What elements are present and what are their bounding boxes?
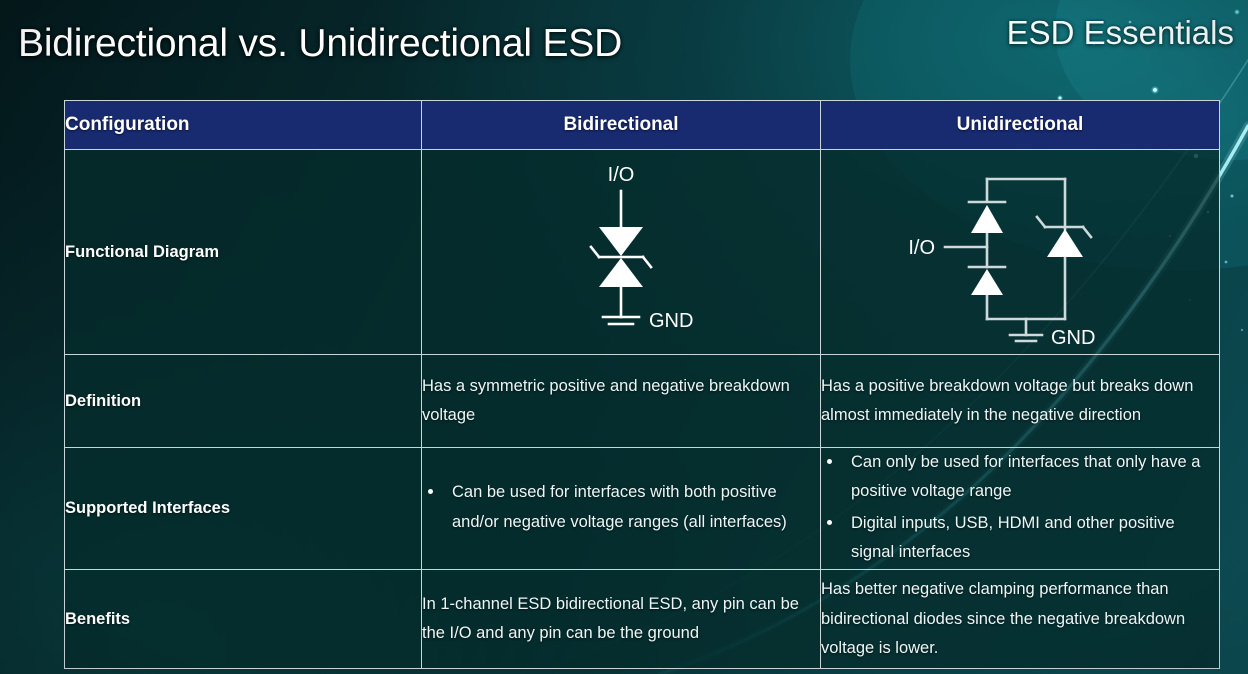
cell-supported-unidirectional: Can only be used for interfaces that onl… <box>821 448 1220 570</box>
cell-bidirectional-diagram: I/O GND <box>422 150 821 355</box>
cell-supported-bidirectional: Can be used for interfaces with both pos… <box>422 448 821 570</box>
bidirectional-gnd-label: GND <box>649 310 693 332</box>
table-header-row: Configuration Bidirectional Unidirection… <box>65 101 1220 150</box>
column-header-unidirectional: Unidirectional <box>821 101 1220 150</box>
list-item: Digital inputs, USB, HDMI and other posi… <box>821 509 1219 568</box>
unidirectional-io-label: I/O <box>908 237 935 259</box>
table-row-definition: Definition Has a symmetric positive and … <box>65 355 1220 448</box>
bullet-dot-icon <box>827 459 832 464</box>
table-row-benefits: Benefits In 1-channel ESD bidirectional … <box>65 570 1220 669</box>
bullet-list-bidirectional: Can be used for interfaces with both pos… <box>422 478 820 537</box>
row-label-definition: Definition <box>65 355 422 448</box>
bullet-list-unidirectional: Can only be used for interfaces that onl… <box>821 448 1219 567</box>
cell-benefits-bidirectional: In 1-channel ESD bidirectional ESD, any … <box>422 570 821 669</box>
column-header-bidirectional: Bidirectional <box>422 101 821 150</box>
unidirectional-gnd-label: GND <box>1051 327 1095 347</box>
list-item: Can only be used for interfaces that onl… <box>821 448 1219 507</box>
table-row-functional-diagram: Functional Diagram <box>65 150 1220 355</box>
list-item-label: Can be used for interfaces with both pos… <box>452 483 787 530</box>
row-label-functional-diagram: Functional Diagram <box>65 150 422 355</box>
unidirectional-rail-clamp-icon: I/O GND <box>875 157 1165 347</box>
list-item-label: Digital inputs, USB, HDMI and other posi… <box>851 514 1175 561</box>
list-item: Can be used for interfaces with both pos… <box>422 478 820 537</box>
list-item-label: Can only be used for interfaces that onl… <box>851 453 1200 500</box>
comparison-table: Configuration Bidirectional Unidirection… <box>64 100 1220 669</box>
row-label-supported-interfaces: Supported Interfaces <box>65 448 422 570</box>
cell-definition-bidirectional: Has a symmetric positive and negative br… <box>422 355 821 448</box>
cell-unidirectional-diagram: I/O GND <box>821 150 1220 355</box>
bidirectional-tvs-diode-icon: I/O GND <box>521 157 721 347</box>
column-header-configuration: Configuration <box>65 101 422 150</box>
cell-benefits-unidirectional: Has better negative clamping performance… <box>821 570 1220 669</box>
slide-background: Bidirectional vs. Unidirectional ESD ESD… <box>0 0 1248 674</box>
row-label-benefits: Benefits <box>65 570 422 669</box>
bidirectional-io-label: I/O <box>608 164 635 186</box>
table-row-supported-interfaces: Supported Interfaces Can be used for int… <box>65 448 1220 570</box>
bullet-dot-icon <box>428 489 433 494</box>
bullet-dot-icon <box>827 520 832 525</box>
slide-kicker: ESD Essentials <box>1007 14 1234 52</box>
cell-definition-unidirectional: Has a positive breakdown voltage but bre… <box>821 355 1220 448</box>
slide-title: Bidirectional vs. Unidirectional ESD <box>18 22 622 66</box>
